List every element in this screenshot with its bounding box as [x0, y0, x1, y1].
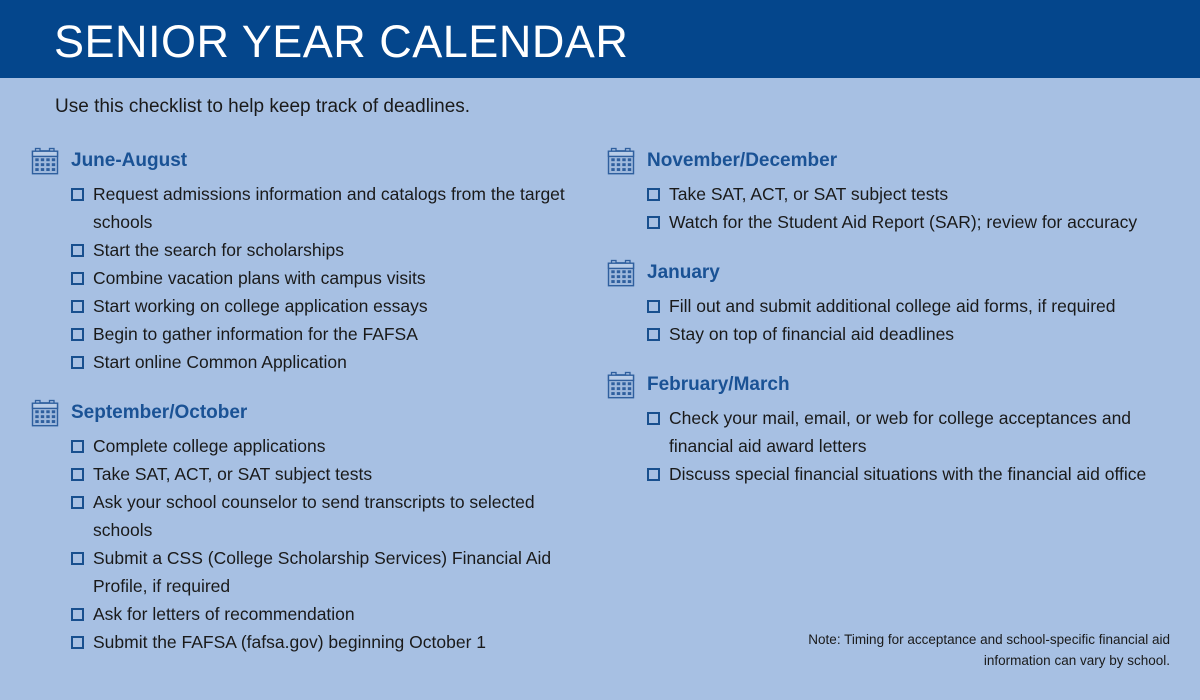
checklist-item-label: Start working on college application ess… [93, 296, 428, 316]
checklist: Request admissions information and catal… [30, 180, 590, 376]
checklist-item[interactable]: Take SAT, ACT, or SAT subject tests [71, 460, 590, 488]
checklist-item-label: Submit a CSS (College Scholarship Servic… [93, 548, 551, 596]
checklist-item[interactable]: Ask your school counselor to send transc… [71, 488, 590, 544]
checkbox-icon[interactable] [71, 552, 84, 565]
subtitle: Use this checklist to help keep track of… [55, 95, 470, 119]
calendar-section: November/DecemberTake SAT, ACT, or SAT s… [606, 146, 1181, 236]
checklist-item[interactable]: Discuss special financial situations wit… [647, 460, 1181, 488]
page-title: SENIOR YEAR CALENDAR [54, 17, 628, 67]
checklist-item[interactable]: Submit a CSS (College Scholarship Servic… [71, 544, 590, 600]
section-title: June-August [71, 150, 187, 172]
calendar-section: February/MarchCheck your mail, email, or… [606, 370, 1181, 488]
checklist-item[interactable]: Complete college applications [71, 432, 590, 460]
calendar-section: JanuaryFill out and submit additional co… [606, 258, 1181, 348]
checkbox-icon[interactable] [71, 188, 84, 201]
checkbox-icon[interactable] [71, 440, 84, 453]
calendar-icon [606, 371, 636, 399]
checklist-item-label: Start the search for scholarships [93, 240, 344, 260]
checklist: Fill out and submit additional college a… [606, 292, 1181, 348]
section-header: February/March [606, 370, 1181, 400]
calendar-icon [606, 259, 636, 287]
checkbox-icon[interactable] [71, 468, 84, 481]
checkbox-icon[interactable] [71, 636, 84, 649]
checklist-item-label: Complete college applications [93, 436, 326, 456]
checkbox-icon[interactable] [71, 356, 84, 369]
checklist-item[interactable]: Begin to gather information for the FAFS… [71, 320, 590, 348]
checklist-item[interactable]: Start working on college application ess… [71, 292, 590, 320]
checkbox-icon[interactable] [71, 272, 84, 285]
checklist-item-label: Ask your school counselor to send transc… [93, 492, 535, 540]
checklist-item-label: Take SAT, ACT, or SAT subject tests [669, 184, 948, 204]
section-title: February/March [647, 374, 790, 396]
checklist-item[interactable]: Stay on top of financial aid deadlines [647, 320, 1181, 348]
section-title: November/December [647, 150, 837, 172]
checklist-item[interactable]: Check your mail, email, or web for colle… [647, 404, 1181, 460]
section-header: September/October [30, 398, 590, 428]
checklist-item-label: Discuss special financial situations wit… [669, 464, 1146, 484]
calendar-icon [30, 399, 60, 427]
checklist-item-label: Ask for letters of recommendation [93, 604, 355, 624]
checklist-item[interactable]: Watch for the Student Aid Report (SAR); … [647, 208, 1181, 236]
section-header: November/December [606, 146, 1181, 176]
checklist-item[interactable]: Take SAT, ACT, or SAT subject tests [647, 180, 1181, 208]
footer-note: Note: Timing for acceptance and school-s… [790, 629, 1170, 671]
header-bar: SENIOR YEAR CALENDAR [0, 0, 1200, 78]
section-header: June-August [30, 146, 590, 176]
checklist-item-label: Take SAT, ACT, or SAT subject tests [93, 464, 372, 484]
checklist-item[interactable]: Fill out and submit additional college a… [647, 292, 1181, 320]
checklist: Complete college applicationsTake SAT, A… [30, 432, 590, 656]
checkbox-icon[interactable] [71, 244, 84, 257]
checklist-item-label: Combine vacation plans with campus visit… [93, 268, 426, 288]
checklist-item-label: Submit the FAFSA (fafsa.gov) beginning O… [93, 632, 486, 652]
checklist: Check your mail, email, or web for colle… [606, 404, 1181, 488]
calendar-icon [30, 147, 60, 175]
section-header: January [606, 258, 1181, 288]
checkbox-icon[interactable] [647, 328, 660, 341]
checkbox-icon[interactable] [71, 328, 84, 341]
checkbox-icon[interactable] [71, 608, 84, 621]
checklist: Take SAT, ACT, or SAT subject testsWatch… [606, 180, 1181, 236]
checkbox-icon[interactable] [647, 412, 660, 425]
right-column: November/DecemberTake SAT, ACT, or SAT s… [606, 146, 1181, 488]
section-title: September/October [71, 402, 247, 424]
checkbox-icon[interactable] [71, 300, 84, 313]
checklist-item[interactable]: Start online Common Application [71, 348, 590, 376]
checklist-item[interactable]: Ask for letters of recommendation [71, 600, 590, 628]
checklist-item[interactable]: Submit the FAFSA (fafsa.gov) beginning O… [71, 628, 590, 656]
checklist-item[interactable]: Request admissions information and catal… [71, 180, 590, 236]
checklist-item-label: Watch for the Student Aid Report (SAR); … [669, 212, 1137, 232]
section-title: January [647, 262, 720, 284]
calendar-section: September/OctoberComplete college applic… [30, 398, 590, 656]
left-column: June-AugustRequest admissions informatio… [30, 146, 590, 656]
checklist-item[interactable]: Combine vacation plans with campus visit… [71, 264, 590, 292]
checklist-item-label: Stay on top of financial aid deadlines [669, 324, 954, 344]
checklist-item-label: Request admissions information and catal… [93, 184, 565, 232]
checkbox-icon[interactable] [71, 496, 84, 509]
calendar-section: June-AugustRequest admissions informatio… [30, 146, 590, 376]
checkbox-icon[interactable] [647, 468, 660, 481]
checkbox-icon[interactable] [647, 300, 660, 313]
checklist-item-label: Start online Common Application [93, 352, 347, 372]
checklist-item-label: Check your mail, email, or web for colle… [669, 408, 1131, 456]
checklist-item[interactable]: Start the search for scholarships [71, 236, 590, 264]
checkbox-icon[interactable] [647, 188, 660, 201]
checklist-item-label: Begin to gather information for the FAFS… [93, 324, 418, 344]
checkbox-icon[interactable] [647, 216, 660, 229]
calendar-icon [606, 147, 636, 175]
checklist-item-label: Fill out and submit additional college a… [669, 296, 1115, 316]
